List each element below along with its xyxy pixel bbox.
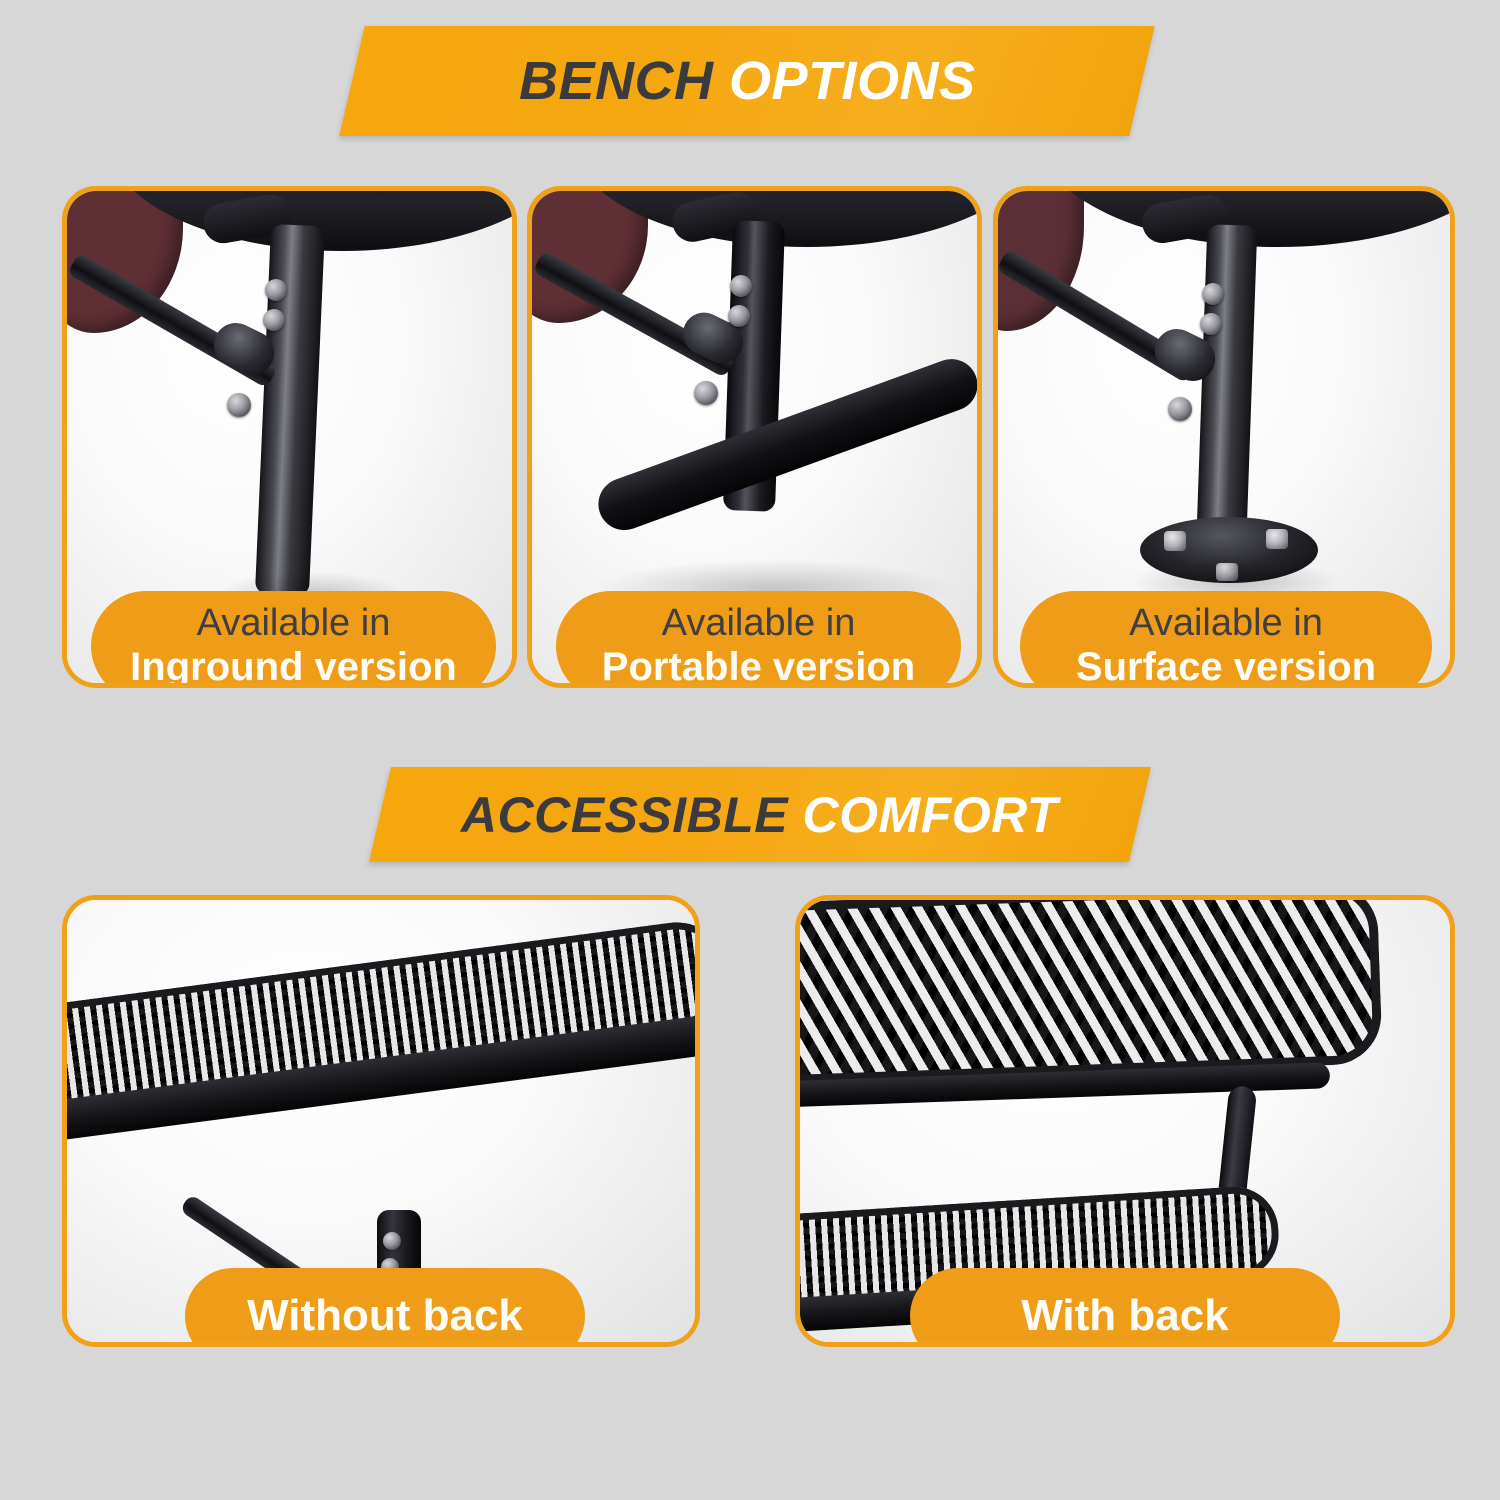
banner-word-light: COMFORT [803,787,1058,843]
label-pill-with-back: With back [910,1268,1340,1347]
infographic-page: BENCH OPTIONS Available in Inground vers… [0,0,1500,1500]
pill-line-bottom: With back [1021,1291,1228,1340]
card-surface[interactable]: Available in Surface version [993,186,1455,688]
banner-text: ACCESSIBLE COMFORT [461,786,1058,844]
card-inground[interactable]: Available in Inground version [62,186,517,688]
banner-word-dark: ACCESSIBLE [461,787,788,843]
pill-line-top: Available in [197,602,391,645]
label-pill-inground: Available in Inground version [91,591,496,688]
label-pill-without-back: Without back [185,1268,585,1347]
section-banner-bench-options: BENCH OPTIONS [339,26,1154,136]
pill-line-bottom: Surface version [1076,645,1376,688]
label-pill-portable: Available in Portable version [556,591,961,688]
card-with-back[interactable]: With back [795,895,1455,1347]
label-pill-surface: Available in Surface version [1020,591,1432,688]
card-portable[interactable]: Available in Portable version [527,186,982,688]
pill-line-bottom: Without back [247,1291,523,1340]
pill-line-top: Available in [1129,602,1323,645]
card-without-back[interactable]: Without back [62,895,700,1347]
pill-line-bottom: Portable version [602,645,915,688]
banner-word-light: OPTIONS [729,51,976,111]
pill-line-top: Available in [662,602,856,645]
banner-word-dark: BENCH [519,51,714,111]
banner-text: BENCH OPTIONS [519,50,976,112]
pill-line-bottom: Inground version [130,645,457,688]
section-banner-accessible-comfort: ACCESSIBLE COMFORT [369,767,1151,862]
